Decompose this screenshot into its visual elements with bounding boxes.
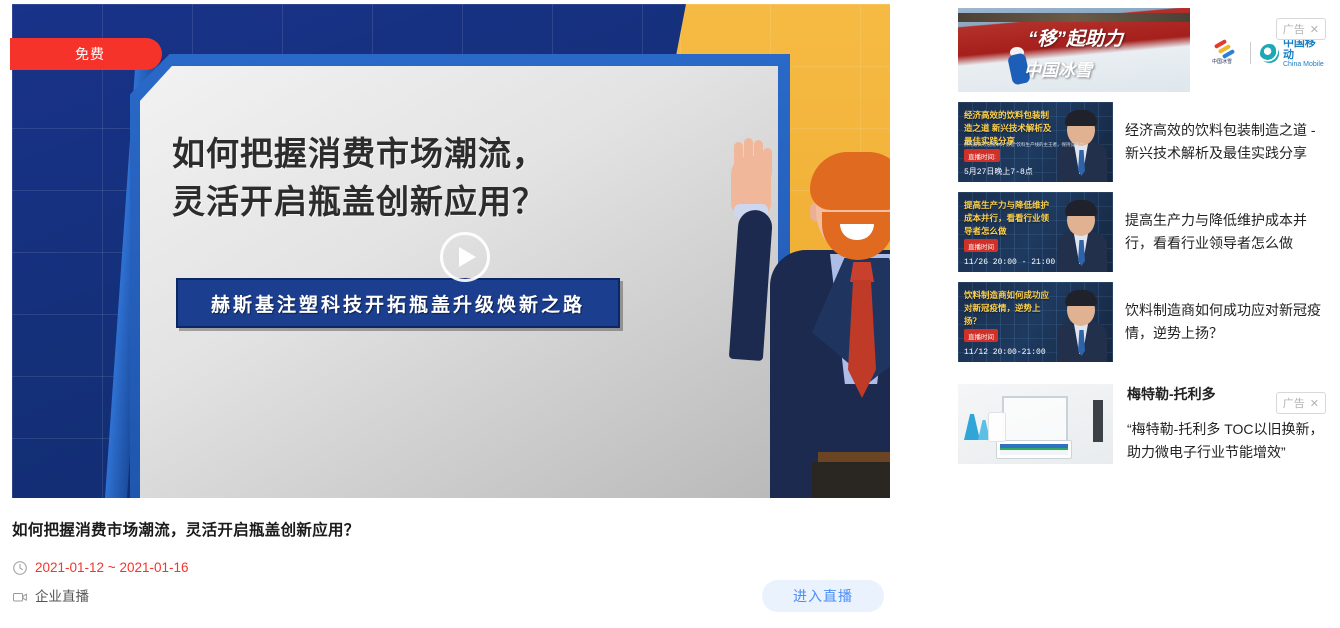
slide-title: 如何把握消费市场潮流， 灵活开启瓶盖创新应用？ <box>172 130 632 226</box>
slide-title-line-1: 如何把握消费市场潮流， <box>172 130 632 178</box>
thumbnail-time: 5月27日晚上7-8点 <box>964 166 1033 177</box>
thumbnail-title: 饮料制造商如何成功应对新冠疫情，逆势上扬？ <box>964 289 1055 327</box>
china-mobile-logo-icon: 中国移动 China Mobile <box>1260 38 1326 68</box>
slide-title-line-2: 灵活开启瓶盖创新应用？ <box>172 178 632 226</box>
play-button[interactable] <box>440 232 490 282</box>
close-icon[interactable]: ✕ <box>1310 23 1319 36</box>
date-range-row: 2021-01-12 ~ 2021-01-16 <box>12 560 189 576</box>
presenter-illustration <box>712 132 890 498</box>
bottom-ad-quote: “梅特勒-托利多 TOC以旧换新，助力微电子行业节能增效” <box>1127 418 1326 463</box>
thumbnail-badge: 直播时间 <box>964 239 998 252</box>
china-mobile-label-en: China Mobile <box>1283 61 1326 68</box>
video-player[interactable]: 如何把握消费市场潮流， 灵活开启瓶盖创新应用？ 赫斯基注塑科技开拓瓶盖升级焕新之… <box>12 4 890 498</box>
china-mobile-mark-icon <box>1260 44 1279 63</box>
video-camera-icon <box>12 589 28 605</box>
thumbnail-time: 11/26 20:00 - 21:00 <box>964 258 1055 267</box>
live-type-text: 企业直播 <box>35 590 89 604</box>
thumbnail-badge: 直播时间: <box>964 149 1000 162</box>
banner-ad-brands: 中国冰雪 中国移动 China Mobile <box>1210 38 1326 68</box>
list-item[interactable]: 饮料制造商如何成功应对新冠疫情，逆势上扬？ 直播时间 11/12 20:00-2… <box>958 282 1326 362</box>
close-icon[interactable]: ✕ <box>1310 397 1319 410</box>
bottom-ad-thumbnail <box>958 384 1113 464</box>
article-thumbnail: 经济高效的饮料包装制造之道 新兴技术解析及最佳实践分享 拥有最高效低成本的“数智… <box>958 102 1113 182</box>
banner-ad[interactable]: “移”起助力 中国冰雪 中国冰雪 中国移动 China Mobile 广告 ✕ <box>958 8 1326 92</box>
brand-divider <box>1250 42 1251 64</box>
banner-ad-wall <box>958 13 1190 22</box>
slide-banner: 赫斯基注塑科技开拓瓶盖升级焕新之路 <box>176 278 620 328</box>
article-title: 提高生产力与降低维护成本并行，看看行业领导者怎么做 <box>1113 209 1326 254</box>
thumbnail-person <box>1053 198 1111 272</box>
china-winter-sports-logo-label: 中国冰雪 <box>1212 58 1232 65</box>
page-title: 如何把握消费市场潮流，灵活开启瓶盖创新应用？ <box>12 518 360 540</box>
play-icon <box>459 247 476 267</box>
ad-label-text: 广告 <box>1283 21 1305 37</box>
china-mobile-label-cn: 中国移动 <box>1283 38 1326 61</box>
date-range-text: 2021-01-12 ~ 2021-01-16 <box>35 561 189 575</box>
thumbnail-title: 提高生产力与降低维护成本并行，看看行业领导者怎么做 <box>964 199 1055 237</box>
article-thumbnail: 饮料制造商如何成功应对新冠疫情，逆势上扬？ 直播时间 11/12 20:00-2… <box>958 282 1113 362</box>
article-thumbnail: 提高生产力与降低维护成本并行，看看行业领导者怎么做 直播时间 11/26 20:… <box>958 192 1113 272</box>
article-title: 饮料制造商如何成功应对新冠疫情，逆势上扬？ <box>1113 299 1326 344</box>
free-badge: 免费 <box>10 38 162 70</box>
banner-ad-subline: 中国冰雪 <box>1024 56 1092 81</box>
presenter-arm <box>729 209 773 361</box>
ad-label-top[interactable]: 广告 ✕ <box>1276 18 1326 40</box>
thumbnail-person <box>1053 288 1111 362</box>
thumbnail-badge: 直播时间 <box>964 329 998 342</box>
list-item[interactable]: 经济高效的饮料包装制造之道 新兴技术解析及最佳实践分享 拥有最高效低成本的“数智… <box>958 102 1326 182</box>
article-title: 经济高效的饮料包装制造之道 - 新兴技术解析及最佳实践分享 <box>1113 119 1326 164</box>
bottom-ad[interactable]: 广告 ✕ 梅特勒-托利多 “梅特勒-托利多 TOC以旧换新，助力微电子行业节能增… <box>958 384 1326 464</box>
banner-ad-image: “移”起助力 中国冰雪 <box>958 8 1190 92</box>
enter-live-button[interactable]: 进入直播 <box>762 580 884 612</box>
recommendation-sidebar: “移”起助力 中国冰雪 中国冰雪 中国移动 China Mobile 广告 ✕ <box>958 8 1326 464</box>
banner-ad-headline: “移”起助力 <box>1028 30 1123 51</box>
presenter-hair <box>810 152 890 210</box>
thumbnail-time: 11/12 20:00-21:00 <box>964 348 1046 357</box>
clock-icon <box>12 560 28 576</box>
live-type-row: 企业直播 <box>12 589 89 605</box>
ad-label-text: 广告 <box>1283 395 1305 411</box>
list-item[interactable]: 提高生产力与降低维护成本并行，看看行业领导者怎么做 直播时间 11/26 20:… <box>958 192 1326 272</box>
video-detail-column: 如何把握消费市场潮流， 灵活开启瓶盖创新应用？ 赫斯基注塑科技开拓瓶盖升级焕新之… <box>0 0 950 628</box>
thumbnail-subtitle: 拥有最高效低成本的“数智”饮料生产线的主王者，保持竞争力 <box>964 142 1084 148</box>
china-winter-sports-logo-icon: 中国冰雪 <box>1210 38 1241 68</box>
ad-label-bottom[interactable]: 广告 ✕ <box>1276 392 1326 414</box>
